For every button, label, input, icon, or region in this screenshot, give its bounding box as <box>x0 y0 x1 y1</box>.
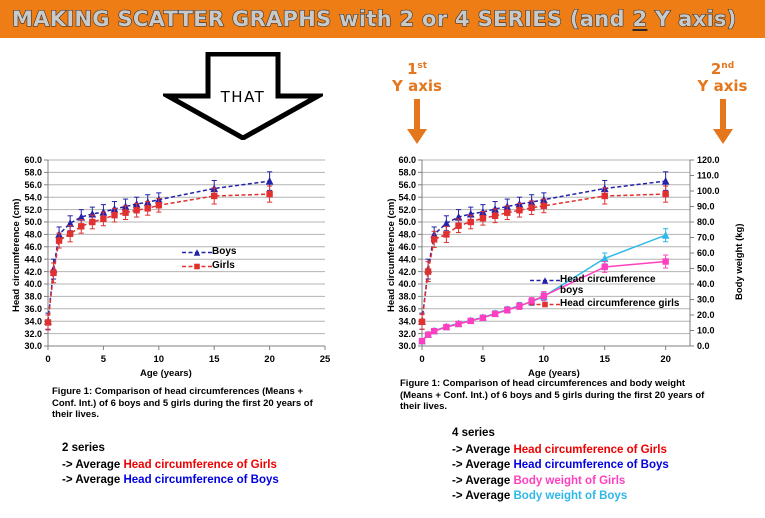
svg-text:48.0: 48.0 <box>398 230 416 240</box>
legend-label: Girls <box>212 260 235 271</box>
chart-right-y2-axis-title: Body weight (kg) <box>734 223 745 300</box>
bullet-item: -> Average Head circumference of Girls <box>62 458 362 474</box>
svg-text:10.0: 10.0 <box>697 326 715 336</box>
svg-text:100.0: 100.0 <box>697 186 720 196</box>
svg-text:30.0: 30.0 <box>398 341 416 351</box>
chart-right: Head circumference (cm) Body weight (kg)… <box>378 152 765 382</box>
svg-text:54.0: 54.0 <box>24 192 42 202</box>
svg-text:40.0: 40.0 <box>24 279 42 289</box>
svg-text:5: 5 <box>480 354 486 365</box>
bullet-text: Head circumference of Boys <box>513 459 668 471</box>
square-marker-icon <box>182 261 212 272</box>
bullet-prefix: -> Average <box>452 490 513 502</box>
legend-item[interactable]: Head circumference boys <box>530 274 680 296</box>
svg-text:32.0: 32.0 <box>24 329 42 339</box>
bullet-text: Body weight of Boys <box>513 490 627 502</box>
legend-label: Head circumference girls <box>560 298 680 309</box>
svg-text:0.0: 0.0 <box>697 341 710 351</box>
svg-text:120.0: 120.0 <box>697 155 720 165</box>
svg-text:42.0: 42.0 <box>24 267 42 277</box>
banner-title-svg: MAKING SCATTER GRAPHS with 2 or 4 SERIES… <box>10 4 758 34</box>
legend-item[interactable]: Boys <box>182 246 236 258</box>
callout2-number: 2 <box>711 60 721 78</box>
svg-text:10: 10 <box>154 354 165 365</box>
svg-text:15: 15 <box>209 354 220 365</box>
callout1-sup: st <box>417 61 427 71</box>
chart-left-x-axis-title: Age (years) <box>140 368 192 379</box>
svg-text:50.0: 50.0 <box>697 264 715 274</box>
bullet-text: Body weight of Girls <box>513 475 625 487</box>
svg-text:70.0: 70.0 <box>697 233 715 243</box>
svg-text:50.0: 50.0 <box>24 217 42 227</box>
chart-right-caption: Figure 1: Comparison of head circumferen… <box>400 378 718 413</box>
callout1-number: 1 <box>407 60 417 78</box>
legend-item[interactable]: Head circumference girls <box>530 298 680 310</box>
callout1-label: Y axis <box>362 78 472 95</box>
chart-left-plot: 30.032.034.036.038.040.042.044.046.048.0… <box>0 152 340 382</box>
svg-text:52.0: 52.0 <box>398 205 416 215</box>
svg-text:36.0: 36.0 <box>24 304 42 314</box>
svg-text:60.0: 60.0 <box>398 155 416 165</box>
bullet-prefix: -> Average <box>452 459 513 471</box>
chart-right-y-axis-title: Head circumference (cm) <box>386 198 397 312</box>
svg-text:20: 20 <box>660 354 671 365</box>
svg-text:34.0: 34.0 <box>24 316 42 326</box>
svg-text:15: 15 <box>599 354 610 365</box>
bullet-text: Head circumference of Girls <box>123 459 276 471</box>
svg-text:10: 10 <box>539 354 550 365</box>
bullet-text: Head circumference of Girls <box>513 444 666 456</box>
svg-text:60.0: 60.0 <box>24 155 42 165</box>
bullets-right: 4 series-> Average Head circumference of… <box>452 426 752 505</box>
chart-left-legend: BoysGirls <box>182 246 236 274</box>
svg-text:50.0: 50.0 <box>398 217 416 227</box>
svg-text:44.0: 44.0 <box>398 254 416 264</box>
bullet-text: Head circumference of Boys <box>123 474 278 486</box>
svg-text:25: 25 <box>320 354 331 365</box>
svg-text:90.0: 90.0 <box>697 202 715 212</box>
svg-text:36.0: 36.0 <box>398 304 416 314</box>
svg-text:MAKING SCATTER GRAPHS with 2 o: MAKING SCATTER GRAPHS with 2 or 4 SERIES… <box>12 7 737 31</box>
svg-text:60.0: 60.0 <box>697 248 715 258</box>
svg-text:40.0: 40.0 <box>398 279 416 289</box>
svg-text:44.0: 44.0 <box>24 254 42 264</box>
bullet-prefix: -> Average <box>452 475 513 487</box>
svg-text:42.0: 42.0 <box>398 267 416 277</box>
chart-left: Head circumference (cm) Age (years) 30.0… <box>0 152 340 382</box>
bullet-item: -> Average Head circumference of Girls <box>452 443 752 459</box>
svg-text:32.0: 32.0 <box>398 329 416 339</box>
second-y-axis-callout: 2nd Y axis <box>680 58 765 149</box>
svg-text:40.0: 40.0 <box>697 279 715 289</box>
svg-text:54.0: 54.0 <box>398 192 416 202</box>
svg-text:56.0: 56.0 <box>398 180 416 190</box>
svg-text:58.0: 58.0 <box>24 168 42 178</box>
svg-text:38.0: 38.0 <box>398 292 416 302</box>
svg-text:0: 0 <box>419 354 424 365</box>
svg-text:46.0: 46.0 <box>24 242 42 252</box>
title-banner: MAKING SCATTER GRAPHS with 2 or 4 SERIES… <box>0 0 765 38</box>
bullet-item: -> Average Head circumference of Boys <box>452 458 752 474</box>
down-arrow-icon <box>404 99 430 145</box>
svg-text:5: 5 <box>101 354 107 365</box>
that-label: THAT <box>200 88 286 106</box>
chart-left-caption: Figure 1: Comparison of head circumferen… <box>52 386 320 421</box>
svg-text:30.0: 30.0 <box>697 295 715 305</box>
bullet-prefix: -> Average <box>62 459 123 471</box>
slide-root: MAKING SCATTER GRAPHS with 2 or 4 SERIES… <box>0 0 765 518</box>
bullet-prefix: -> Average <box>452 444 513 456</box>
svg-text:52.0: 52.0 <box>24 205 42 215</box>
svg-text:80.0: 80.0 <box>697 217 715 227</box>
callout2-sup: nd <box>721 61 734 71</box>
svg-text:58.0: 58.0 <box>398 168 416 178</box>
chart-right-plot: 30.032.034.036.038.040.042.044.046.048.0… <box>378 152 765 382</box>
svg-text:56.0: 56.0 <box>24 180 42 190</box>
bullet-item: -> Average Head circumference of Boys <box>62 473 362 489</box>
svg-text:30.0: 30.0 <box>24 341 42 351</box>
svg-text:20: 20 <box>264 354 275 365</box>
legend-label: Head circumference boys <box>560 274 656 296</box>
bullet-item: -> Average Body weight of Boys <box>452 489 752 505</box>
triangle-marker-icon <box>530 275 560 286</box>
svg-text:38.0: 38.0 <box>24 292 42 302</box>
bullets-header: 4 series <box>452 426 752 442</box>
svg-text:34.0: 34.0 <box>398 316 416 326</box>
chart-left-y-axis-title: Head circumference (cm) <box>11 198 22 312</box>
square-marker-icon <box>530 299 560 310</box>
legend-item[interactable]: Girls <box>182 260 236 272</box>
legend-label: Boys <box>212 246 236 257</box>
svg-text:46.0: 46.0 <box>398 242 416 252</box>
bullets-left: 2 series-> Average Head circumference of… <box>62 441 362 489</box>
down-arrow-icon <box>710 99 736 145</box>
bullet-prefix: -> Average <box>62 474 123 486</box>
callout2-label: Y axis <box>680 78 765 95</box>
svg-text:110.0: 110.0 <box>697 171 719 181</box>
bullet-item: -> Average Body weight of Girls <box>452 474 752 490</box>
svg-text:20.0: 20.0 <box>697 310 715 320</box>
triangle-marker-icon <box>182 247 212 258</box>
svg-text:0: 0 <box>45 354 50 365</box>
chart-right-legend: Head circumference boysHead circumferenc… <box>530 274 680 312</box>
bullets-header: 2 series <box>62 441 362 457</box>
svg-text:48.0: 48.0 <box>24 230 42 240</box>
first-y-axis-callout: 1st Y axis <box>362 58 472 149</box>
